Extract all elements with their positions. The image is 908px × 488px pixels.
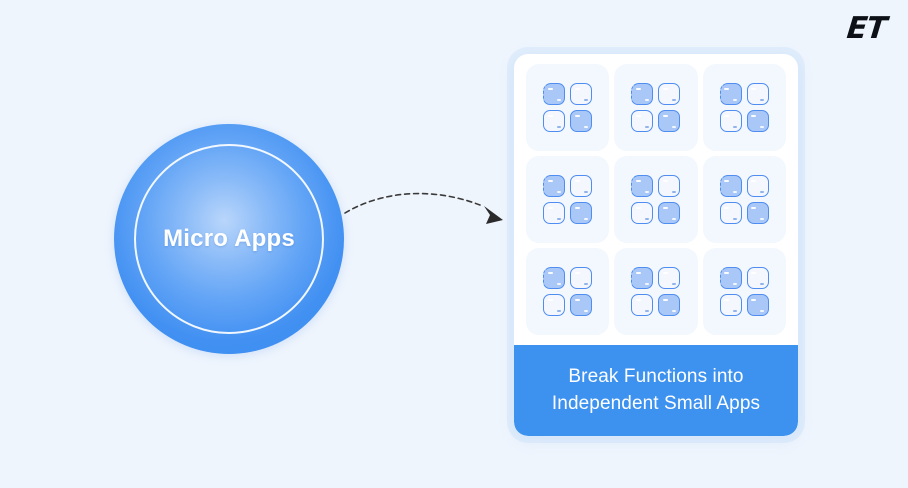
app-tile-top-left <box>720 267 742 289</box>
app-tile-bottom-right <box>658 294 680 316</box>
result-banner-text: Break Functions into Independent Small A… <box>542 364 770 418</box>
app-tile-top-left <box>631 175 653 197</box>
app-tile-top-right <box>747 175 769 197</box>
app-tile-top-right <box>658 83 680 105</box>
app-tile-top-left <box>543 267 565 289</box>
arrow-head-icon <box>484 206 503 224</box>
app-tile-bottom-left <box>720 294 742 316</box>
infographic-canvas: ET Micro Apps <box>0 0 908 488</box>
app-group-5[interactable] <box>614 156 697 243</box>
app-tile-bottom-left <box>543 294 565 316</box>
app-tile-top-left <box>631 83 653 105</box>
app-group-3[interactable] <box>703 64 786 151</box>
micro-apps-circle: Micro Apps <box>114 124 344 354</box>
app-tile-bottom-left <box>631 110 653 132</box>
mini-app-grid <box>720 267 769 316</box>
app-tile-top-right <box>570 83 592 105</box>
mini-app-grid <box>720 175 769 224</box>
result-banner-line-1: Break Functions into <box>552 364 760 391</box>
app-group-8[interactable] <box>614 248 697 335</box>
app-tile-top-right <box>658 267 680 289</box>
app-tile-bottom-left <box>631 202 653 224</box>
app-tile-bottom-right <box>658 202 680 224</box>
app-tile-top-left <box>543 175 565 197</box>
app-tile-top-left <box>631 267 653 289</box>
arrow-dashed-path <box>345 194 480 213</box>
app-group-4[interactable] <box>526 156 609 243</box>
result-panel: Break Functions into Independent Small A… <box>514 54 798 436</box>
mini-app-grid <box>631 175 680 224</box>
mini-app-grid <box>631 267 680 316</box>
app-tile-bottom-right <box>658 110 680 132</box>
app-tile-bottom-right <box>570 110 592 132</box>
app-tile-bottom-right <box>747 294 769 316</box>
app-tile-top-right <box>658 175 680 197</box>
result-banner: Break Functions into Independent Small A… <box>514 345 798 436</box>
mini-app-grid <box>543 175 592 224</box>
app-tile-top-right <box>747 267 769 289</box>
app-tile-top-left <box>720 83 742 105</box>
app-tile-bottom-left <box>543 110 565 132</box>
app-tile-top-right <box>570 267 592 289</box>
app-tile-bottom-left <box>543 202 565 224</box>
app-tile-bottom-right <box>747 110 769 132</box>
app-tile-bottom-left <box>631 294 653 316</box>
app-tile-bottom-left <box>720 110 742 132</box>
app-tile-top-right <box>570 175 592 197</box>
app-tile-bottom-right <box>570 202 592 224</box>
app-grid <box>514 54 798 345</box>
app-group-9[interactable] <box>703 248 786 335</box>
mini-app-grid <box>543 83 592 132</box>
app-tile-top-left <box>720 175 742 197</box>
result-banner-line-2: Independent Small Apps <box>552 391 760 418</box>
app-tile-bottom-right <box>570 294 592 316</box>
app-tile-bottom-left <box>720 202 742 224</box>
app-group-6[interactable] <box>703 156 786 243</box>
app-tile-top-left <box>543 83 565 105</box>
mini-app-grid <box>720 83 769 132</box>
app-tile-top-right <box>747 83 769 105</box>
app-tile-bottom-right <box>747 202 769 224</box>
app-group-1[interactable] <box>526 64 609 151</box>
app-group-2[interactable] <box>614 64 697 151</box>
micro-apps-label: Micro Apps <box>114 225 344 253</box>
mini-app-grid <box>631 83 680 132</box>
mini-app-grid <box>543 267 592 316</box>
app-group-7[interactable] <box>526 248 609 335</box>
brand-logo: ET <box>845 14 887 44</box>
